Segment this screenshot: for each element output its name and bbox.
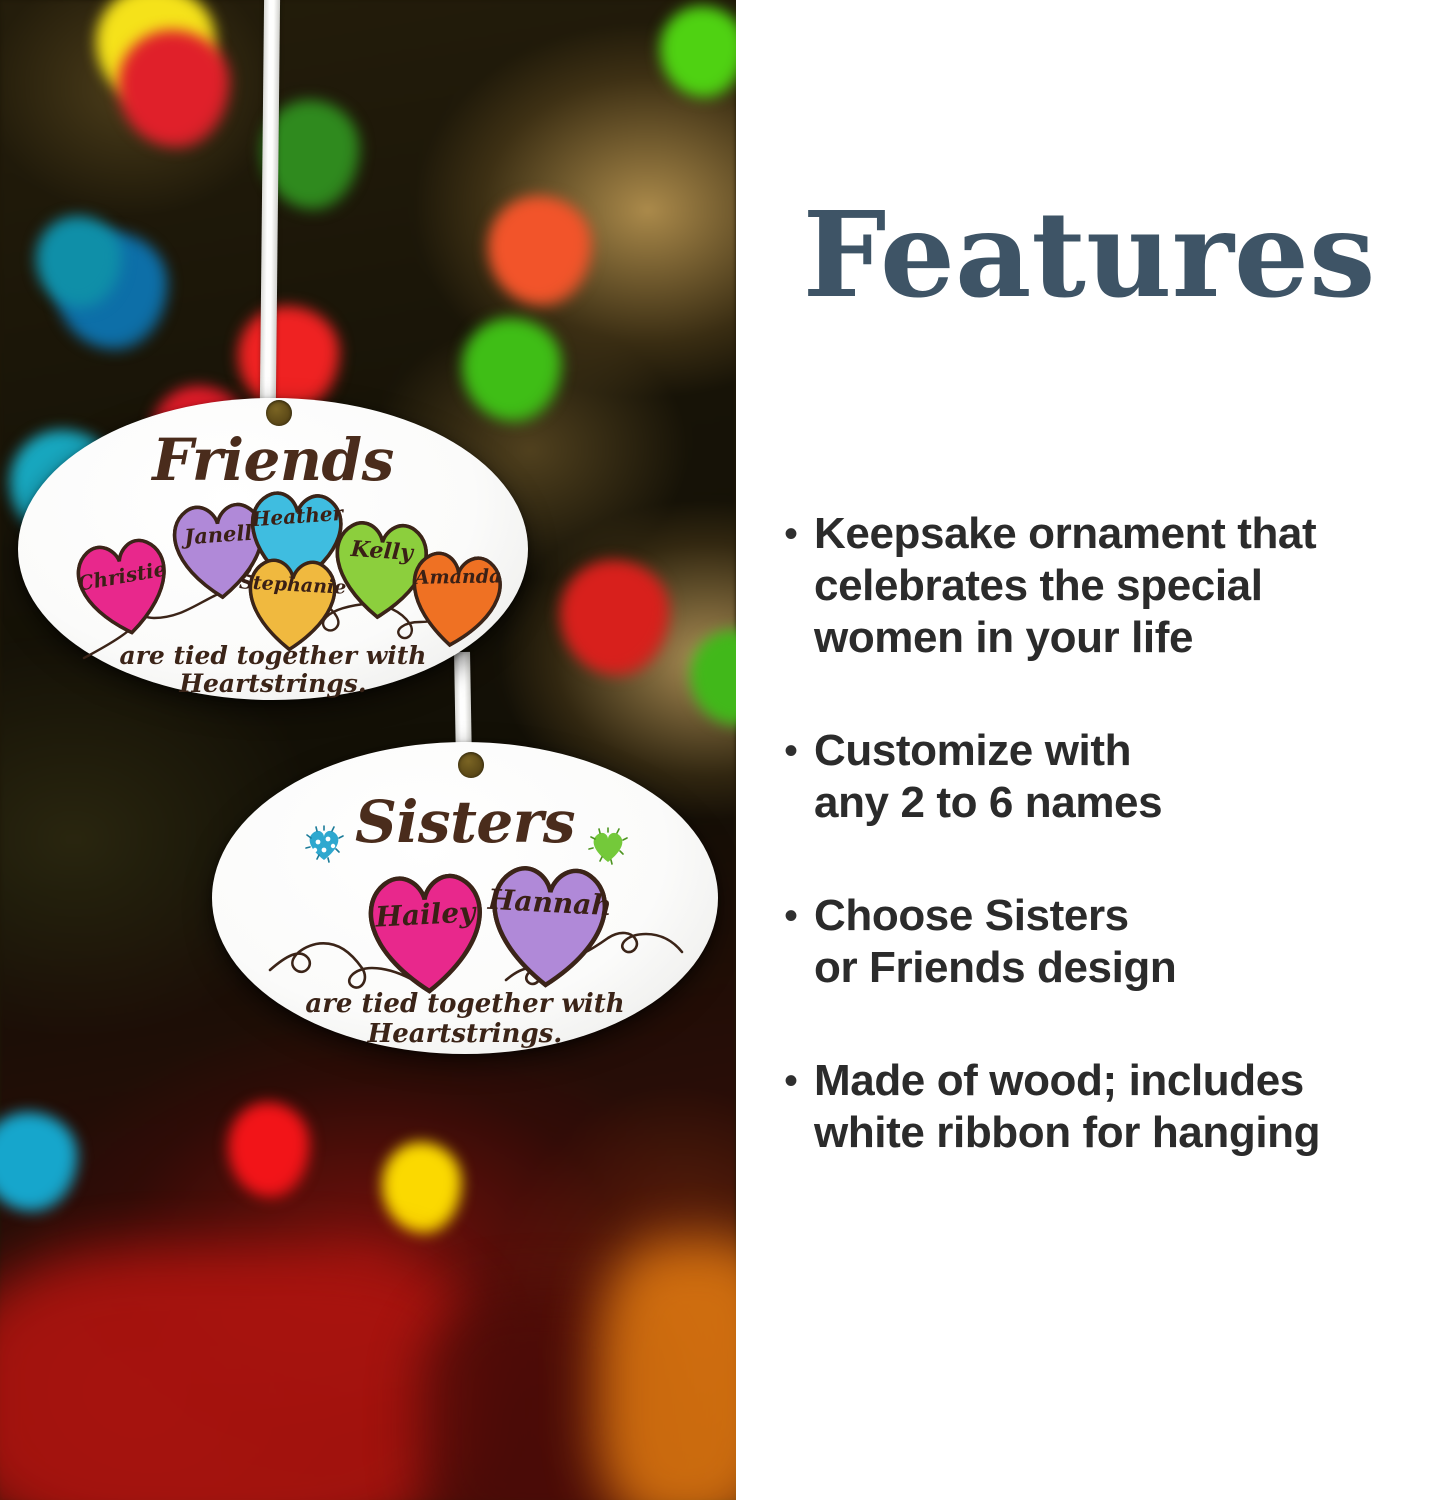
friends-ornament-tagline-line2: Heartstrings. <box>18 670 528 698</box>
product-photo-panel: Friends <box>0 0 736 1500</box>
friends-ornament[interactable]: Friends <box>18 398 528 700</box>
feature-design-text: Choose Sisters or Friends design <box>814 890 1442 994</box>
feature-material-text: Made of wood; includes white ribbon for … <box>814 1055 1442 1159</box>
bullet-marker-icon: • <box>784 890 814 942</box>
sisters-ornament-tagline-line2: Heartstrings. <box>212 1020 718 1049</box>
feature-customize: •Customize with any 2 to 6 names <box>784 725 1442 829</box>
feature-material: •Made of wood; includes white ribbon for… <box>784 1055 1442 1159</box>
sisters-ornament[interactable]: Sisters <box>212 742 718 1054</box>
feature-keepsake: •Keepsake ornament that celebrates the s… <box>784 508 1442 664</box>
heart-hannah: Hannah <box>470 842 627 996</box>
sisters-ornament-tagline-line1: are tied together with <box>212 990 718 1019</box>
gift-orange-blur <box>596 1240 736 1500</box>
bullet-marker-icon: • <box>784 725 814 777</box>
features-bullet-list: •Keepsake ornament that celebrates the s… <box>784 508 1442 1220</box>
heart-amanda: Amanda <box>390 531 523 657</box>
feature-design: •Choose Sisters or Friends design <box>784 890 1442 994</box>
bullet-marker-icon: • <box>784 508 814 560</box>
bullet-marker-icon: • <box>784 1055 814 1107</box>
features-heading: Features <box>736 196 1442 314</box>
friends-ornament-tagline-line1: are tied together with <box>18 642 528 670</box>
feature-keepsake-text: Keepsake ornament that celebrates the sp… <box>814 508 1442 664</box>
features-panel: Features •Keepsake ornament that celebra… <box>736 0 1442 1500</box>
gift-red-blur <box>0 1248 480 1500</box>
product-feature-graphic: Friends <box>0 0 1442 1500</box>
feature-customize-text: Customize with any 2 to 6 names <box>814 725 1442 829</box>
